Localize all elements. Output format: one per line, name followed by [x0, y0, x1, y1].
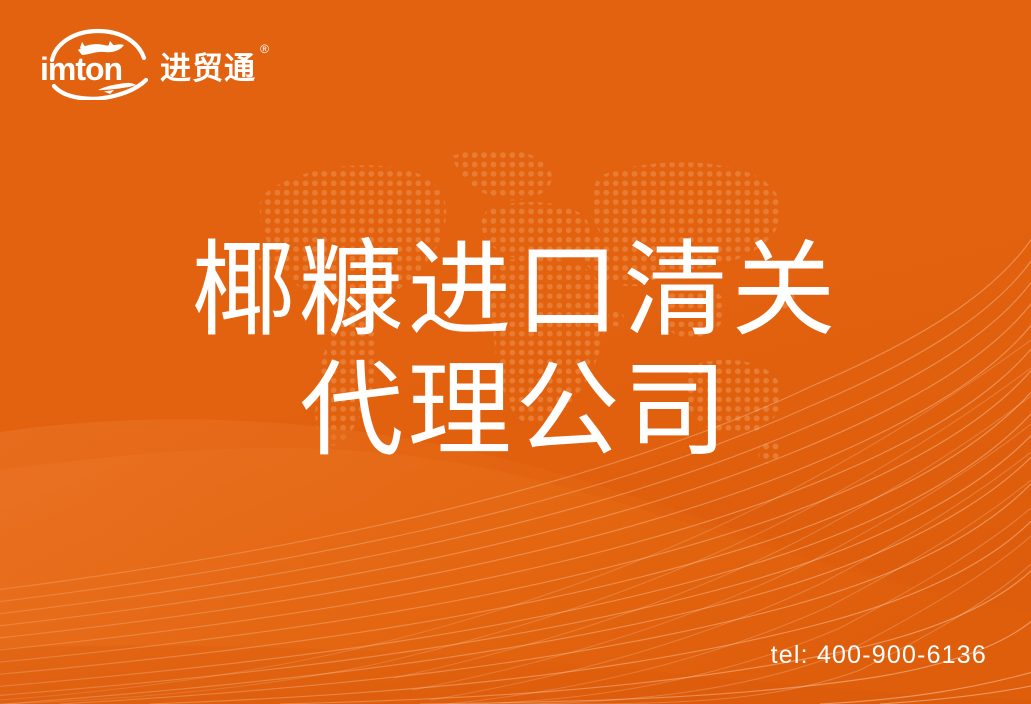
headline-line-1: 椰糠进口清关	[0, 232, 1031, 350]
headline-block: 椰糠进口清关 代理公司	[0, 232, 1031, 470]
svg-text:imton: imton	[40, 51, 122, 87]
logo-chinese-name: 进贸通 ®	[160, 53, 256, 84]
logo-mark: imton	[38, 28, 156, 100]
registered-trademark-icon: ®	[260, 43, 270, 55]
globe-arc-logo: imton	[38, 28, 156, 100]
brand-logo[interactable]: imton 进贸通 ®	[38, 28, 256, 100]
headline-line-2: 代理公司	[0, 352, 1031, 470]
logo-chinese-text: 进贸通	[160, 51, 256, 86]
contact-phone[interactable]: tel: 400-900-6136	[771, 641, 987, 670]
poster-canvas: imton 进贸通 ® 椰糠进口清关 代理公司 tel: 400-900-613…	[0, 0, 1031, 704]
